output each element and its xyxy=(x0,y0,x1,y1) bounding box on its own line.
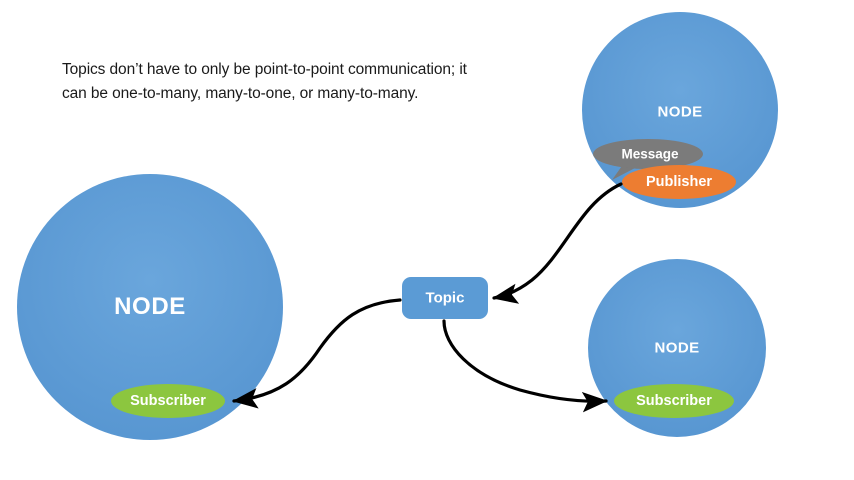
arrow-topic-to-subscriber-right xyxy=(444,321,606,401)
diagram-canvas xyxy=(0,0,854,480)
subscriber-ellipse-left[interactable] xyxy=(111,384,225,418)
topic-box-shape[interactable] xyxy=(402,277,488,319)
arrow-publisher-to-topic xyxy=(494,184,621,298)
subscriber-ellipse-right[interactable] xyxy=(614,384,734,418)
publisher-ellipse[interactable] xyxy=(622,165,736,199)
message-ellipse[interactable] xyxy=(593,139,703,169)
diagram-slide: Topics don’t have to only be point-to-po… xyxy=(0,0,854,480)
